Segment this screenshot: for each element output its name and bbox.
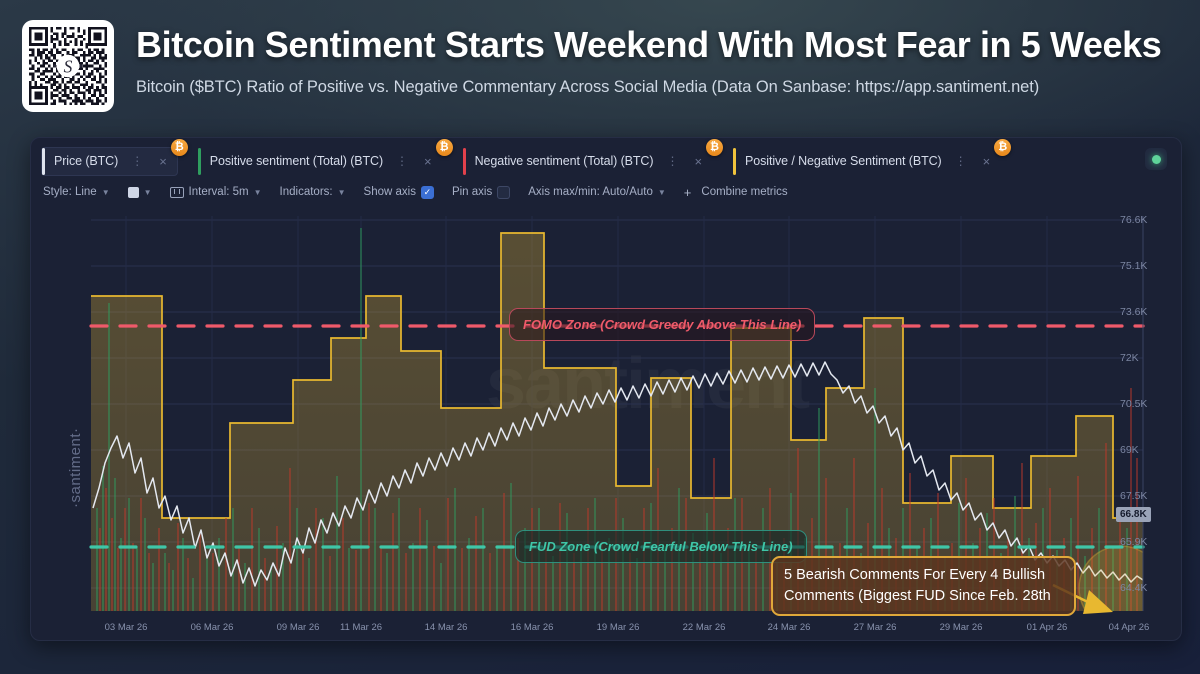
x-tick: 29 Mar 26 <box>940 622 983 633</box>
tab-accent-bar <box>463 148 466 175</box>
combine-metrics-label: Combine metrics <box>701 186 787 198</box>
interval-label: Interval: 5m <box>189 186 249 198</box>
show-axis-checkbox[interactable]: ✓ <box>421 186 434 199</box>
combine-metrics-button[interactable]: + Combine metrics <box>684 185 788 200</box>
chevron-down-icon: ▼ <box>144 188 152 197</box>
x-tick: 16 Mar 26 <box>511 622 554 633</box>
tab-close-icon[interactable]: × <box>688 154 708 169</box>
y-tick: 65.9K <box>1120 536 1147 548</box>
y-tick: 70.5K <box>1120 398 1147 410</box>
chart-panel: Price (BTC) ⋮ × ₿ Positive sentiment (To… <box>30 137 1182 641</box>
plus-icon: + <box>684 185 692 200</box>
current-price-badge: 66.8K <box>1116 507 1151 522</box>
x-tick: 01 Apr 26 <box>1027 622 1068 633</box>
fud-zone-label: FUD Zone (Crowd Fearful Below This Line) <box>515 530 807 563</box>
chevron-down-icon: ▼ <box>254 188 262 197</box>
page-header: S Bitcoin Sentiment Starts Weekend With … <box>0 0 1200 130</box>
x-tick: 09 Mar 26 <box>277 622 320 633</box>
page-title: Bitcoin Sentiment Starts Weekend With Mo… <box>136 24 1178 65</box>
tab-menu-icon[interactable]: ⋮ <box>396 155 408 167</box>
x-tick: 27 Mar 26 <box>854 622 897 633</box>
metric-tab-label: Positive sentiment (Total) (BTC) <box>210 154 383 168</box>
pin-axis-label: Pin axis <box>452 186 492 198</box>
interval-selector[interactable]: Interval: 5m ▼ <box>170 186 262 198</box>
indicators-label: Indicators: <box>280 186 333 198</box>
metric-tab-positive-sentiment[interactable]: Positive sentiment (Total) (BTC) ⋮ × ₿ <box>197 147 443 176</box>
tab-accent-bar <box>198 148 201 175</box>
fomo-zone-label: FOMO Zone (Crowd Greedy Above This Line) <box>509 308 815 341</box>
tab-accent-bar <box>733 148 736 175</box>
metric-tabs: Price (BTC) ⋮ × ₿ Positive sentiment (To… <box>31 138 1181 178</box>
bitcoin-badge-icon: ₿ <box>171 139 188 156</box>
metric-tab-price[interactable]: Price (BTC) ⋮ × ₿ <box>41 147 178 176</box>
show-axis-toggle[interactable]: Show axis ✓ <box>364 186 434 199</box>
show-axis-label: Show axis <box>364 186 416 198</box>
plot-area[interactable]: ·santiment· santiment <box>31 208 1181 640</box>
x-tick: 11 Mar 26 <box>340 622 382 633</box>
interval-icon <box>170 187 184 198</box>
axis-minmax-label: Axis max/min: Auto/Auto <box>528 186 653 198</box>
style-selector[interactable]: Style: Line ▼ <box>43 186 110 198</box>
metric-tab-negative-sentiment[interactable]: Negative sentiment (Total) (BTC) ⋮ × ₿ <box>462 147 713 176</box>
metric-tab-pos-neg-ratio[interactable]: Positive / Negative Sentiment (BTC) ⋮ × … <box>732 147 1001 176</box>
color-swatch-icon <box>128 187 139 198</box>
pin-axis-toggle[interactable]: Pin axis <box>452 186 510 199</box>
tab-menu-icon[interactable]: ⋮ <box>955 155 967 167</box>
style-label: Style: Line <box>43 186 97 198</box>
callout-line-1: 5 Bearish Comments For Every 4 Bullish <box>784 565 1063 586</box>
chevron-down-icon: ▼ <box>102 188 110 197</box>
y-tick: 75.1K <box>1120 260 1147 272</box>
metric-tab-label: Negative sentiment (Total) (BTC) <box>475 154 654 168</box>
chevron-down-icon: ▼ <box>658 188 666 197</box>
y-tick: 69K <box>1120 444 1139 456</box>
chevron-down-icon: ▼ <box>338 188 346 197</box>
x-tick: 14 Mar 26 <box>425 622 468 633</box>
y-tick: 64.4K <box>1120 582 1147 594</box>
y-tick: 72K <box>1120 352 1139 364</box>
tab-close-icon[interactable]: × <box>153 154 173 169</box>
y-axis-labels: 76.6K 75.1K 73.6K 72K 70.5K 69K 67.5K 66… <box>1114 208 1176 640</box>
tab-menu-icon[interactable]: ⋮ <box>131 155 143 167</box>
bitcoin-badge-icon: ₿ <box>706 139 723 156</box>
page-subtitle: Bitcoin ($BTC) Ratio of Positive vs. Neg… <box>136 78 1178 97</box>
y-tick: 76.6K <box>1120 214 1147 226</box>
x-tick: 24 Mar 26 <box>768 622 811 633</box>
y-tick: 67.5K <box>1120 490 1147 502</box>
x-tick: 22 Mar 26 <box>683 622 726 633</box>
chart-toolbar: Style: Line ▼ ▼ Interval: 5m ▼ Indicator… <box>31 178 1181 204</box>
pin-axis-checkbox[interactable] <box>497 186 510 199</box>
fud-callout-annotation: 5 Bearish Comments For Every 4 Bullish C… <box>771 556 1076 616</box>
callout-line-2: Comments (Biggest FUD Since Feb. 28th <box>784 586 1063 607</box>
x-tick: 19 Mar 26 <box>597 622 640 633</box>
x-tick: 06 Mar 26 <box>191 622 234 633</box>
y-tick: 73.6K <box>1120 306 1147 318</box>
x-tick: 03 Mar 26 <box>105 622 148 633</box>
tab-close-icon[interactable]: × <box>977 154 997 169</box>
svg-text:S: S <box>64 57 73 77</box>
tab-close-icon[interactable]: × <box>418 154 438 169</box>
qr-code-icon: S <box>22 20 114 112</box>
tab-accent-bar <box>42 148 45 175</box>
metric-tab-label: Price (BTC) <box>54 154 118 168</box>
x-tick: 04 Apr 26 <box>1109 622 1150 633</box>
color-picker[interactable]: ▼ <box>128 187 152 198</box>
bitcoin-badge-icon: ₿ <box>436 139 453 156</box>
indicators-selector[interactable]: Indicators: ▼ <box>280 186 346 198</box>
live-status-indicator[interactable] <box>1145 148 1167 170</box>
metric-tab-label: Positive / Negative Sentiment (BTC) <box>745 154 942 168</box>
tab-menu-icon[interactable]: ⋮ <box>666 155 678 167</box>
axis-minmax-selector[interactable]: Axis max/min: Auto/Auto ▼ <box>528 186 666 198</box>
x-axis-labels: 03 Mar 26 06 Mar 26 09 Mar 26 11 Mar 26 … <box>31 622 1181 636</box>
bitcoin-badge-icon: ₿ <box>994 139 1011 156</box>
